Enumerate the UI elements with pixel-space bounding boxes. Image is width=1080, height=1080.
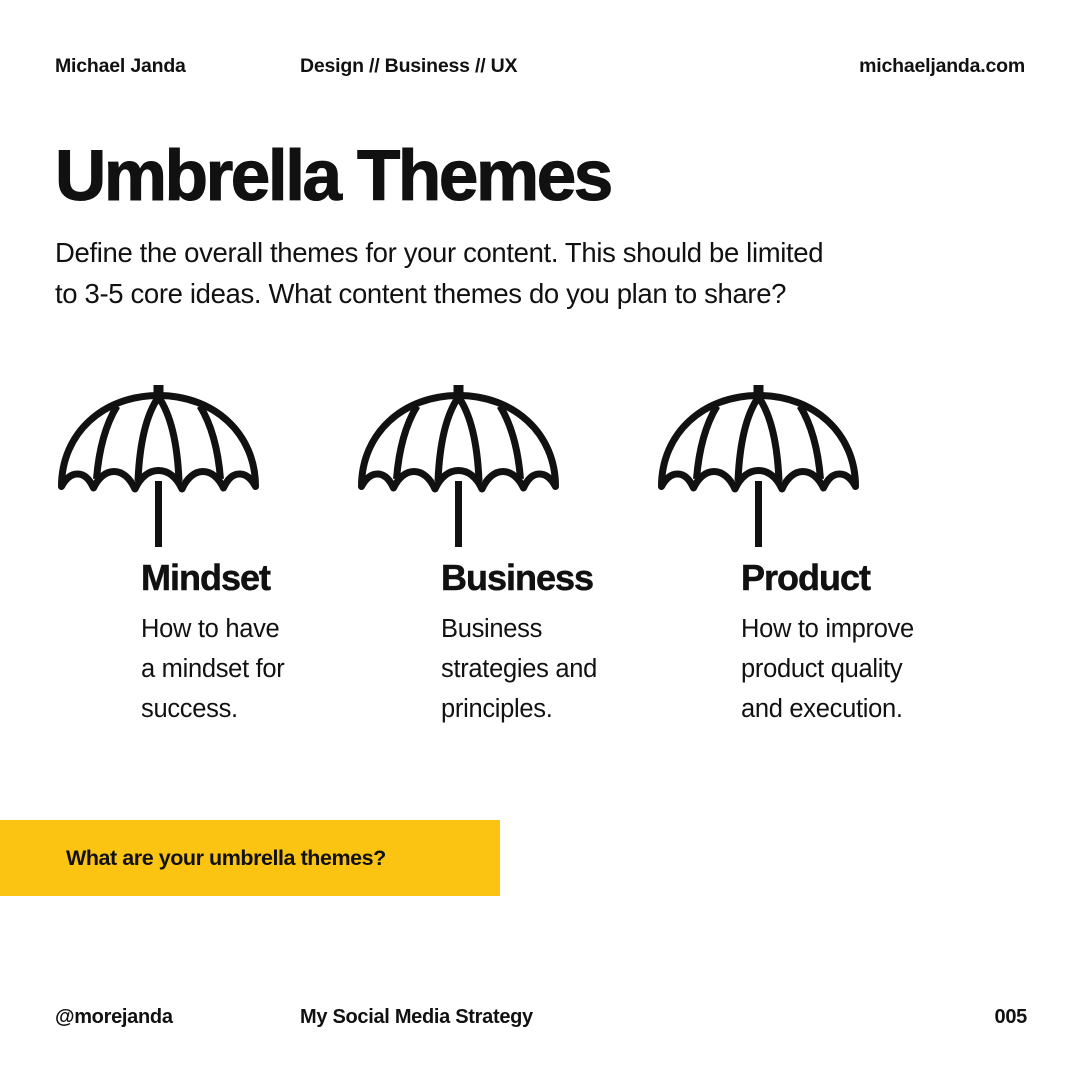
- slide-header: Michael Janda Design // Business // UX m…: [0, 55, 1080, 85]
- theme-column-business: Business Business strategies and princip…: [355, 385, 655, 745]
- header-tagline: Design // Business // UX: [300, 55, 517, 78]
- callout-banner: What are your umbrella themes?: [0, 820, 500, 896]
- page-title: Umbrella Themes: [55, 141, 611, 212]
- theme-description: How to have a mindset for success.: [141, 609, 356, 729]
- umbrella-icon: [355, 385, 562, 547]
- slide-canvas: Michael Janda Design // Business // UX m…: [0, 0, 1080, 1080]
- subtitle-line-2: to 3-5 core ideas. What content themes d…: [55, 273, 915, 314]
- theme-heading: Business: [441, 560, 593, 596]
- umbrella-icon: [55, 385, 262, 547]
- theme-description-line-3: and execution.: [741, 689, 956, 729]
- footer-series-name: My Social Media Strategy: [300, 1006, 533, 1029]
- callout-question: What are your umbrella themes?: [66, 846, 386, 871]
- header-author-name: Michael Janda: [55, 55, 186, 78]
- theme-description-line-2: strategies and: [441, 649, 656, 689]
- theme-description-line-2: product quality: [741, 649, 956, 689]
- theme-description-line-1: Business: [441, 609, 656, 649]
- footer-handle: @morejanda: [55, 1006, 173, 1029]
- theme-description-line-3: principles.: [441, 689, 656, 729]
- theme-heading: Mindset: [141, 560, 270, 596]
- theme-description-line-3: success.: [141, 689, 356, 729]
- theme-column-product: Product How to improve product quality a…: [655, 385, 955, 745]
- theme-description-line-1: How to have: [141, 609, 356, 649]
- page-subtitle: Define the overall themes for your conte…: [55, 232, 915, 314]
- theme-heading: Product: [741, 560, 870, 596]
- slide-footer: @morejanda My Social Media Strategy 005: [0, 1006, 1080, 1036]
- theme-description-line-2: a mindset for: [141, 649, 356, 689]
- theme-description: Business strategies and principles.: [441, 609, 656, 729]
- theme-description: How to improve product quality and execu…: [741, 609, 956, 729]
- theme-description-line-1: How to improve: [741, 609, 956, 649]
- themes-columns: Mindset How to have a mindset for succes…: [0, 385, 1080, 745]
- header-website-url: michaeljanda.com: [859, 55, 1025, 78]
- theme-column-mindset: Mindset How to have a mindset for succes…: [55, 385, 355, 745]
- umbrella-icon: [655, 385, 862, 547]
- subtitle-line-1: Define the overall themes for your conte…: [55, 232, 915, 273]
- footer-page-number: 005: [995, 1006, 1027, 1029]
